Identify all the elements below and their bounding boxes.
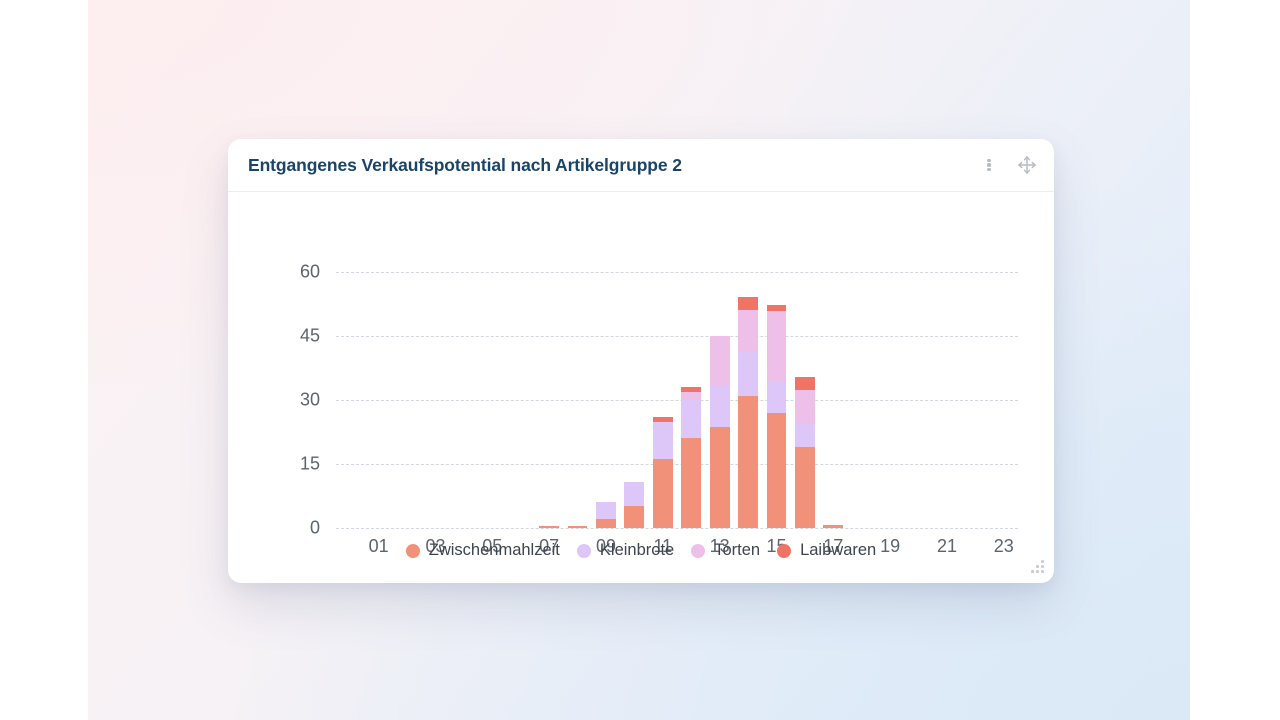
legend-item-label: Zwischenmahlzeit <box>429 541 560 560</box>
page-root: Entgangenes Verkaufspotential nach Artik… <box>0 0 1280 720</box>
chart-plot-area: 015304560 <box>336 272 1018 528</box>
legend-dot-icon <box>577 544 591 558</box>
chart-bar[interactable] <box>624 482 644 529</box>
legend-item[interactable]: Laibwaren <box>777 541 876 560</box>
chart-bar-segment[interactable] <box>795 447 815 528</box>
dashboard-card: Entgangenes Verkaufspotential nach Artik… <box>228 139 1054 583</box>
y-axis-tick-label: 30 <box>300 390 320 411</box>
y-axis-tick-label: 45 <box>300 326 320 347</box>
y-axis-tick-label: 0 <box>310 518 320 539</box>
chart-bar-segment[interactable] <box>681 438 701 528</box>
kebab-dot-1 <box>987 159 990 162</box>
chart-bar-segment[interactable] <box>681 399 701 439</box>
chart-bar-segment[interactable] <box>596 519 616 528</box>
chart-bar-segment[interactable] <box>624 482 644 507</box>
chart-bar-segment[interactable] <box>767 382 787 413</box>
chart-bar-segment[interactable] <box>767 311 787 382</box>
y-axis-tick-label: 60 <box>300 262 320 283</box>
chart-bar[interactable] <box>795 377 815 528</box>
grip-dot <box>1031 570 1034 573</box>
card-header: Entgangenes Verkaufspotential nach Artik… <box>228 139 1054 192</box>
grip-dot <box>1036 565 1039 568</box>
legend-dot-icon <box>406 544 420 558</box>
chart-body: 015304560 010305070911131517192123 Zwisc… <box>228 192 1054 583</box>
chart-bar-segment[interactable] <box>710 427 730 528</box>
chart-bar[interactable] <box>681 387 701 528</box>
grip-dot <box>1036 570 1039 573</box>
grip-dot <box>1041 565 1044 568</box>
chart-bar-segment[interactable] <box>653 459 673 528</box>
chart-bar-segment[interactable] <box>710 336 730 386</box>
chart-bar-segment[interactable] <box>596 502 616 519</box>
chart-bar[interactable] <box>596 502 616 528</box>
chart-bar-segment[interactable] <box>795 390 815 423</box>
chart-bar-segment[interactable] <box>624 506 644 528</box>
chart-bars <box>336 272 1018 528</box>
chart-bar-segment[interactable] <box>653 422 673 459</box>
y-axis-tick-label: 15 <box>300 454 320 475</box>
chart-bar-segment[interactable] <box>767 413 787 528</box>
chart-bar[interactable] <box>767 305 787 528</box>
chart-bar-segment[interactable] <box>738 352 758 396</box>
grip-dot <box>1041 560 1044 563</box>
chart-bar-segment[interactable] <box>738 297 758 311</box>
legend-item[interactable]: Kleinbrote <box>577 541 674 560</box>
grip-dot <box>1041 570 1044 573</box>
chart-bar-segment[interactable] <box>738 310 758 352</box>
chart-bar[interactable] <box>653 417 673 528</box>
legend-item[interactable]: Torten <box>691 541 760 560</box>
chart-bar-segment[interactable] <box>795 423 815 446</box>
chart-bar-segment[interactable] <box>710 386 730 427</box>
legend-dot-icon <box>691 544 705 558</box>
legend-dot-icon <box>777 544 791 558</box>
chart-bar[interactable] <box>738 297 758 528</box>
legend-item-label: Kleinbrote <box>600 541 674 560</box>
kebab-dot-3 <box>987 168 990 171</box>
chart-bar[interactable] <box>710 336 730 528</box>
legend-item-label: Laibwaren <box>800 541 876 560</box>
kebab-menu-icon[interactable] <box>976 152 1002 178</box>
chart-bar-segment[interactable] <box>795 377 815 391</box>
chart-bar-segment[interactable] <box>738 396 758 528</box>
card-header-actions <box>976 152 1040 178</box>
kebab-dot-2 <box>987 163 990 166</box>
resize-grip-icon[interactable] <box>1030 559 1046 575</box>
chart-legend: ZwischenmahlzeitKleinbroteTortenLaibware… <box>228 541 1054 560</box>
page-title: Entgangenes Verkaufspotential nach Artik… <box>248 155 682 176</box>
legend-item[interactable]: Zwischenmahlzeit <box>406 541 560 560</box>
legend-item-label: Torten <box>714 541 760 560</box>
move-arrows-icon[interactable] <box>1014 152 1040 178</box>
